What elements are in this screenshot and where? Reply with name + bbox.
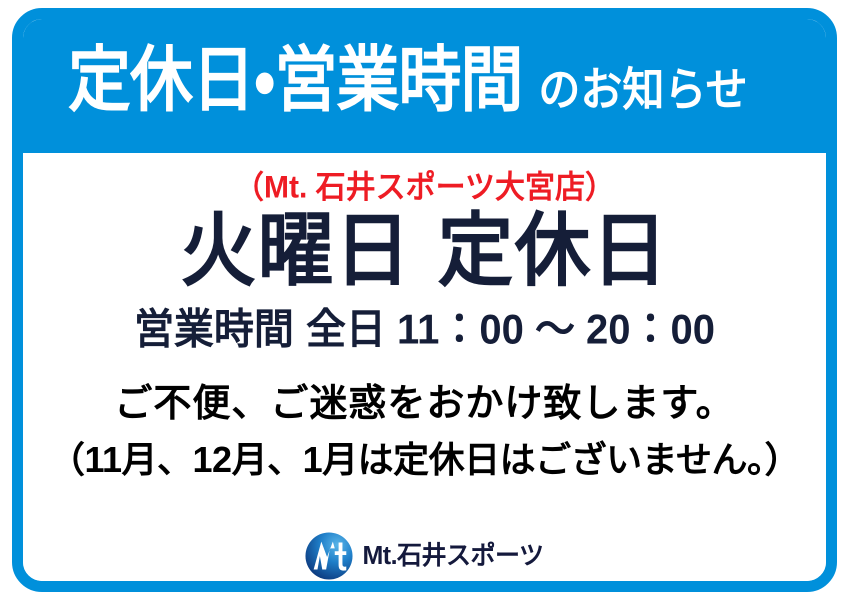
- store-name: （Mt. 石井スポーツ大宮店）: [23, 161, 826, 207]
- notice-poster: 定休日・営業時間 のお知らせ （Mt. 石井スポーツ大宮店） 火曜日定休日 営業…: [12, 8, 837, 592]
- header-sub-title: のお知らせ: [538, 67, 747, 113]
- brand-logo: Mt.石井スポーツ: [23, 532, 826, 580]
- poster-body: （Mt. 石井スポーツ大宮店） 火曜日定休日 営業時間全日 11：00 ～ 20…: [23, 154, 826, 581]
- apology-text: ご不便、ご迷惑をおかけ致します。: [23, 384, 826, 426]
- closed-day-weekday: 火曜日: [181, 206, 412, 296]
- closed-day-label: 定休日: [438, 206, 669, 296]
- poster-header: 定休日・営業時間 のお知らせ: [22, 18, 827, 153]
- business-hours-label: 営業時間: [134, 307, 294, 353]
- closed-day-heading: 火曜日定休日: [23, 210, 826, 295]
- header-main-title: 定休日・営業時間: [68, 45, 522, 117]
- business-hours-value: 全日 11：00 ～ 20：00: [306, 307, 715, 353]
- exception-note: （11月、12月、1月は定休日はございません。）: [23, 440, 826, 480]
- header-title-line: 定休日・営業時間 のお知らせ: [68, 54, 748, 117]
- mt-ishii-sports-circle-logo-icon: [305, 532, 353, 580]
- brand-wordmark: Mt.石井スポーツ: [362, 543, 543, 569]
- business-hours-line: 営業時間全日 11：00 ～ 20：00: [23, 307, 826, 353]
